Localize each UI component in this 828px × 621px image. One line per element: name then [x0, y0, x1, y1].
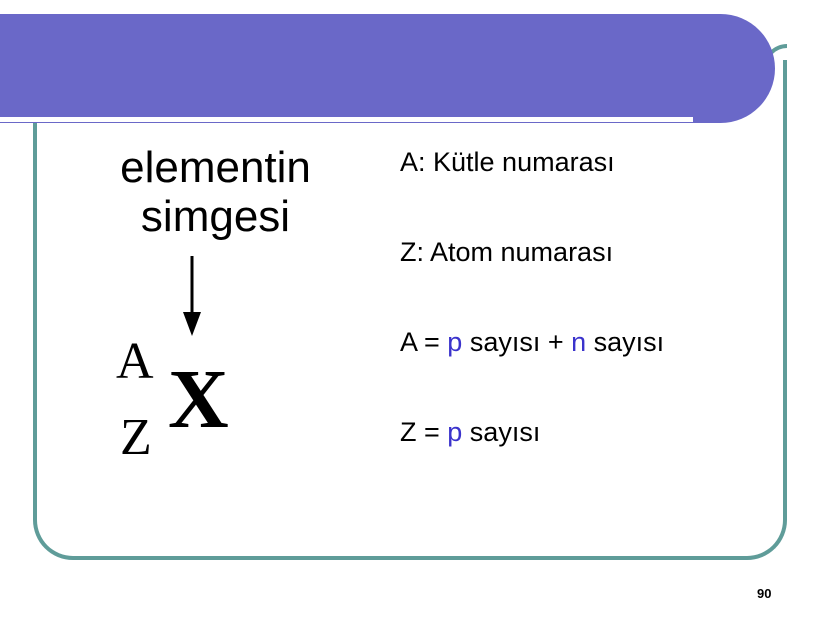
legend-token: sayısı + [462, 327, 571, 357]
element-symbol-caption: elementin simgesi [78, 143, 353, 242]
legend-token: Z = [400, 417, 447, 447]
legend-line-mass-number-formula: A = p sayısı + n sayısı [400, 328, 770, 418]
legend-token: sayısı [586, 327, 664, 357]
banner-top-mask [0, 0, 790, 14]
page-number: 90 [757, 586, 771, 601]
legend-token: A = [400, 327, 447, 357]
legend-token: Z: Atom numarası [400, 237, 613, 267]
caption-line-1: elementin [78, 143, 353, 192]
banner-divider-rule [0, 117, 693, 122]
legend-line-atomic-number-formula: Z = p sayısı [400, 418, 770, 448]
caption-line-2: simgesi [78, 192, 353, 241]
legend-token-highlight: p [447, 327, 462, 357]
legend-token-highlight: n [571, 327, 586, 357]
slide-canvas: elementin simgesi A Z X A: Kütle numaras… [0, 0, 828, 621]
title-banner [0, 14, 775, 123]
mass-number-superscript: A [116, 336, 154, 388]
legend-token: A: Kütle numarası [400, 147, 615, 177]
nuclide-notation: A Z X [110, 336, 290, 486]
legend-token-highlight: p [447, 417, 462, 447]
legend-token: sayısı [462, 417, 540, 447]
down-arrow-icon [178, 256, 206, 336]
legend-list: A: Kütle numarasıZ: Atom numarasıA = p s… [400, 148, 770, 448]
legend-line-mass-number-definition: A: Kütle numarası [400, 148, 770, 238]
element-symbol-glyph: X [168, 358, 229, 442]
legend-line-atomic-number-definition: Z: Atom numarası [400, 238, 770, 328]
atomic-number-subscript: Z [120, 412, 152, 464]
